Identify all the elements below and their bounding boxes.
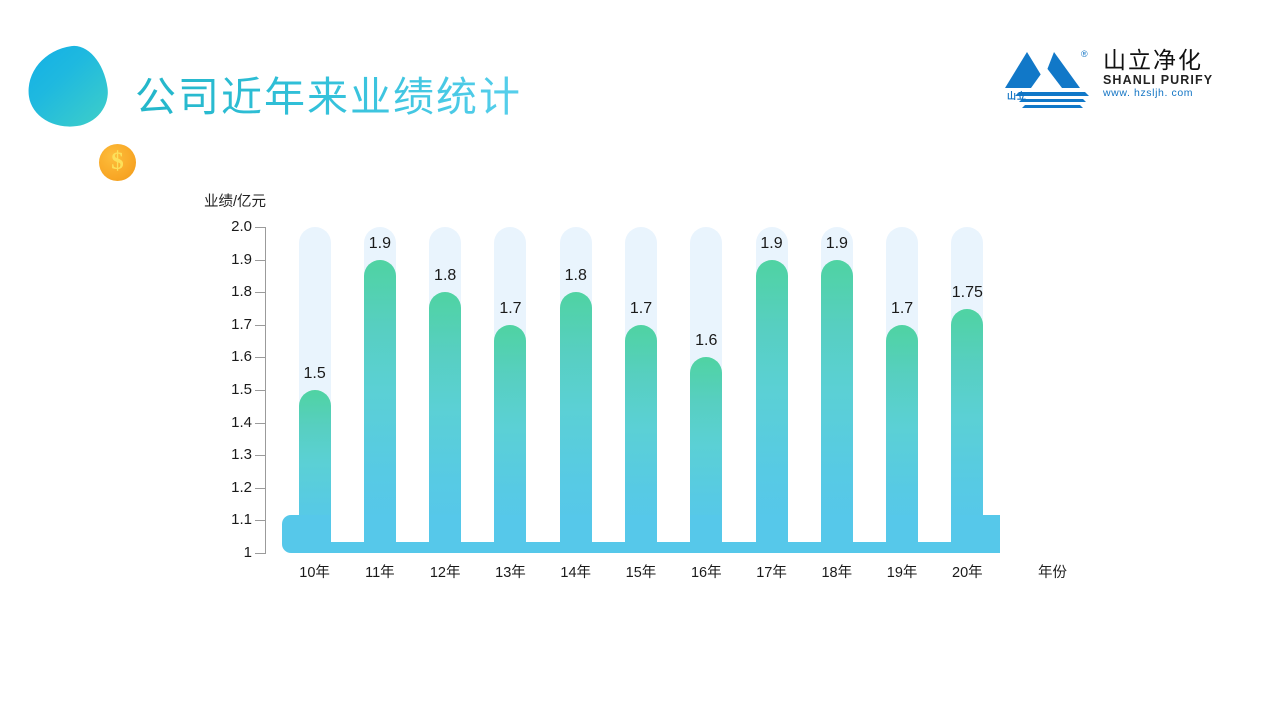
x-axis-tick-label: 14年 [541,561,611,582]
x-axis-tick-label: 17年 [737,561,807,582]
y-axis-tick-mark [255,325,266,326]
y-axis-tick-label: 1.6 [206,348,252,365]
x-axis-tick-label: 16年 [671,561,741,582]
x-axis-tick-label: 12年 [410,561,480,582]
baseline-notch [853,515,886,542]
bar-value-label: 1.6 [676,332,736,350]
baseline-notch [722,515,755,542]
bar[interactable] [756,260,788,553]
y-axis-tick-group: 2.01.91.81.71.61.51.41.31.21.11 [200,227,252,553]
bar[interactable] [560,292,592,553]
y-axis-tick-mark [255,520,266,521]
bar[interactable] [821,260,853,553]
x-axis-tick-label: 20年 [932,561,1002,582]
baseline-notch [788,515,821,542]
x-axis-tick-label: 13年 [475,561,545,582]
performance-bar-chart: 业绩/亿元 年份 2.01.91.81.71.61.51.41.31.21.11… [0,0,1280,720]
x-axis-tick-label: 10年 [280,561,350,582]
y-axis-tick-label: 1.7 [206,316,252,333]
y-axis-tick-mark [255,260,266,261]
y-axis-tick-mark [255,292,266,293]
baseline-notch [461,515,494,542]
y-axis-tick-label: 1.8 [206,283,252,300]
y-axis-tick-mark [255,488,266,489]
y-axis-tick-mark [255,390,266,391]
baseline-notch [526,515,559,542]
baseline-notch [592,515,625,542]
y-axis-tick-label: 1.4 [206,414,252,431]
y-axis-tick-mark [255,357,266,358]
plot-area [282,222,1000,553]
y-axis-tick-mark [255,423,266,424]
bar-value-label: 1.8 [415,267,475,285]
bar-value-label: 1.7 [611,300,671,318]
y-axis-tick-mark [255,227,266,228]
y-axis-tick-label: 1.3 [206,446,252,463]
y-axis-tick-label: 1.5 [206,381,252,398]
y-axis-tick-label: 1.1 [206,511,252,528]
x-axis-tick-label: 19年 [867,561,937,582]
baseline-notch [918,515,951,542]
baseline-notch [331,515,364,542]
bar-value-label: 1.7 [872,300,932,318]
x-axis-title: 年份 [1038,561,1067,582]
y-axis-tick-label: 1.9 [206,251,252,268]
bar-value-label: 1.9 [742,235,802,253]
baseline-notch [396,515,429,542]
bar-value-label: 1.5 [285,365,345,383]
bar[interactable] [429,292,461,553]
bar-value-label: 1.9 [807,235,867,253]
baseline-band [282,515,1000,553]
bar-value-label: 1.7 [480,300,540,318]
y-axis-tick-mark [255,455,266,456]
bar-value-label: 1.75 [937,284,997,302]
x-axis-tick-label: 15年 [606,561,676,582]
baseline-notch [657,515,690,542]
bar-value-label: 1.9 [350,235,410,253]
bar-value-label: 1.8 [546,267,606,285]
y-axis-title: 业绩/亿元 [204,190,266,211]
y-axis-tick-mark [255,553,266,554]
x-axis-tick-label: 11年 [345,561,415,582]
y-axis-tick-label: 2.0 [206,218,252,235]
y-axis-tick-label: 1 [206,544,252,561]
bar[interactable] [364,260,396,553]
x-axis-tick-label: 18年 [802,561,872,582]
y-axis-tick-label: 1.2 [206,479,252,496]
